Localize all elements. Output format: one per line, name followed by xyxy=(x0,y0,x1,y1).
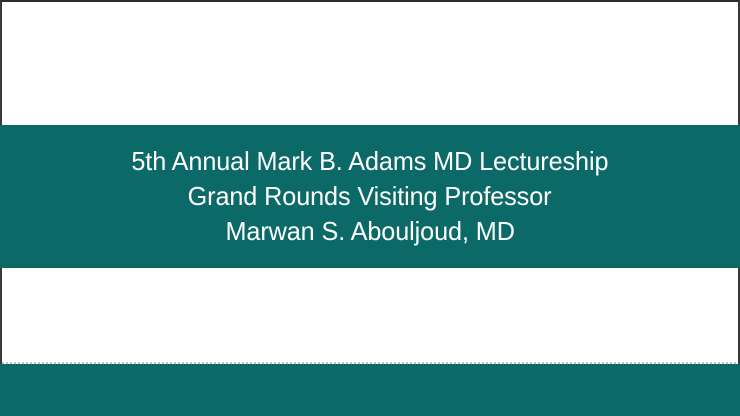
title-line-2: Grand Rounds Visiting Professor xyxy=(188,179,552,214)
middle-white-band xyxy=(0,268,740,364)
title-line-1: 5th Annual Mark B. Adams MD Lectureship xyxy=(131,144,608,179)
title-banner: 5th Annual Mark B. Adams MD Lectureship … xyxy=(0,125,740,268)
top-white-band xyxy=(0,0,740,125)
title-line-3: Marwan S. Abouljoud, MD xyxy=(225,214,514,249)
footer-banner: MEDICAL COLLEGE OF WISCONSIN knowledge c… xyxy=(0,364,740,416)
presentation-slide: 5th Annual Mark B. Adams MD Lectureship … xyxy=(0,0,740,416)
